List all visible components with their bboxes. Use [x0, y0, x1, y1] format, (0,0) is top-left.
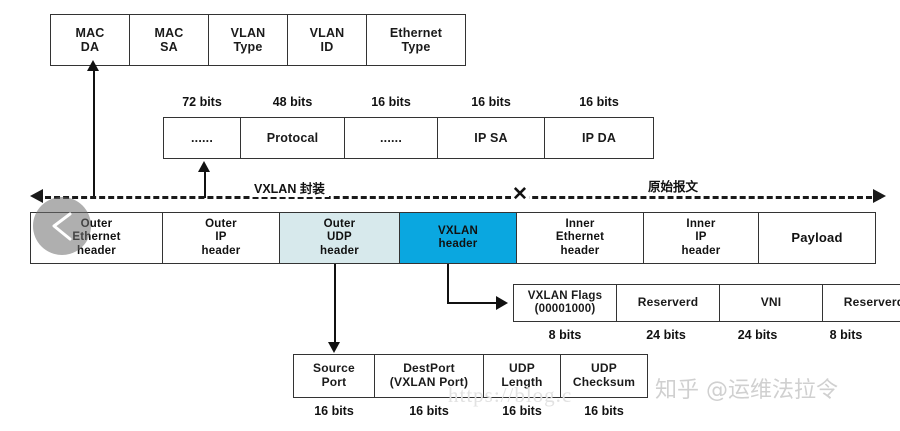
vxlan-bits-label-1: 24 bits — [616, 328, 716, 342]
field-ethernet-type-line1: Ethernet — [390, 26, 442, 40]
outer-ip-line3: header — [202, 245, 241, 258]
field-mac-sa-line1: MAC — [154, 26, 183, 40]
udp-bits-label-0: 16 bits — [293, 404, 375, 418]
previous-image-button[interactable] — [33, 197, 91, 255]
field-mac-sa-line2: SA — [154, 40, 183, 54]
udp-bits-label-3: 16 bits — [560, 404, 648, 418]
inner-ethernet-line1: Inner — [556, 218, 604, 231]
field-ip-misc-2: ...... — [344, 117, 438, 159]
field-vxlan-vni: VNI — [719, 284, 823, 322]
label-original-packet: 原始报文 — [644, 176, 702, 195]
label-vxlan-encapsulation: VXLAN 封装 — [250, 178, 329, 197]
vxlan-bits-label-3: 8 bits — [799, 328, 893, 342]
field-vlan-type-line2: Type — [231, 40, 266, 54]
field-vlan-id-line1: VLAN — [310, 26, 345, 40]
vxlan-header-line2: header — [438, 238, 478, 251]
inner-ip-line1: Inner — [682, 218, 721, 231]
field-vxlan-reserved-1: Reserverd — [616, 284, 720, 322]
packet-field-inner-ethernet-header: Inner Ethernet header — [516, 212, 644, 264]
udp-checksum-line2: Checksum — [573, 376, 635, 390]
inner-ip-line3: header — [682, 245, 721, 258]
field-ip-protocol: Protocal — [240, 117, 345, 159]
ip-bits-label-3: 16 bits — [437, 95, 545, 109]
connector-line-vxlan-horizontal — [447, 302, 497, 304]
chevron-left-icon — [48, 211, 76, 241]
encapsulation-span-line — [36, 196, 881, 199]
encapsulation-arrow-left — [30, 189, 43, 203]
field-mac-da: MAC DA — [50, 14, 130, 66]
field-mac-da-line2: DA — [75, 40, 104, 54]
udp-length-line1: UDP — [501, 362, 542, 376]
udp-source-port-line1: Source — [313, 362, 355, 376]
connector-arrowhead-outer-ethernet — [87, 60, 99, 71]
packet-field-outer-ip-header: Outer IP header — [162, 212, 280, 264]
field-vlan-id-line2: ID — [310, 40, 345, 54]
field-mac-sa: MAC SA — [129, 14, 209, 66]
inner-ethernet-line3: header — [556, 245, 604, 258]
outer-udp-line1: Outer — [320, 218, 359, 231]
field-mac-da-line1: MAC — [75, 26, 104, 40]
vxlan-bits-label-2: 24 bits — [715, 328, 800, 342]
field-ip-da: IP DA — [544, 117, 654, 159]
connector-line-vxlan-vertical — [447, 264, 449, 302]
vxlan-bits-label-0: 8 bits — [513, 328, 617, 342]
udp-dest-port-line1: DestPort — [390, 362, 468, 376]
ip-header-field-table: ...... Protocal ...... IP SA IP DA — [163, 117, 654, 159]
udp-checksum-line1: UDP — [573, 362, 635, 376]
ip-bits-label-4: 16 bits — [544, 95, 654, 109]
field-udp-checksum: UDP Checksum — [560, 354, 648, 398]
watermark-url: https://blog.c — [448, 383, 572, 408]
outer-ip-line1: Outer — [202, 218, 241, 231]
field-vlan-type: VLAN Type — [208, 14, 288, 66]
inner-ip-line2: IP — [682, 231, 721, 244]
vxlan-header-line1: VXLAN — [438, 225, 478, 238]
outer-ip-line2: IP — [202, 231, 241, 244]
field-ip-misc-1: ...... — [163, 117, 241, 159]
connector-arrowhead-udp-detail — [328, 342, 340, 353]
ip-bits-label-1: 48 bits — [240, 95, 345, 109]
diagram-canvas: MAC DA MAC SA VLAN Type VLAN ID Ethernet — [0, 0, 900, 431]
vxlan-flags-line1: VXLAN Flags — [528, 290, 602, 303]
packet-field-inner-ip-header: Inner IP header — [643, 212, 759, 264]
field-ip-sa: IP SA — [437, 117, 545, 159]
encapsulation-arrow-right — [873, 189, 886, 203]
connector-arrowhead-vxlan-detail — [496, 296, 508, 310]
field-vlan-type-line1: VLAN — [231, 26, 266, 40]
encapsulation-split-marker: ✕ — [511, 186, 529, 204]
connector-line-outer-ip — [204, 172, 206, 198]
outer-udp-line3: header — [320, 245, 359, 258]
field-udp-source-port: Source Port — [293, 354, 375, 398]
field-ethernet-type-line2: Type — [390, 40, 442, 54]
vxlan-packet-structure-row: Outer Ethernet header Outer IP header Ou… — [30, 212, 876, 264]
packet-field-payload: Payload — [758, 212, 876, 264]
payload-line1: Payload — [791, 231, 842, 246]
ip-bits-label-2: 16 bits — [344, 95, 438, 109]
watermark-author: 知乎 @运维法拉令 — [655, 372, 838, 404]
packet-field-outer-udp-header: Outer UDP header — [279, 212, 400, 264]
packet-field-vxlan-header: VXLAN header — [399, 212, 517, 264]
ethernet-header-field-table: MAC DA MAC SA VLAN Type VLAN ID Ethernet — [50, 14, 466, 66]
connector-line-outer-ethernet — [93, 70, 95, 196]
field-vxlan-flags: VXLAN Flags (00001000) — [513, 284, 617, 322]
field-vlan-id: VLAN ID — [287, 14, 367, 66]
field-ethernet-type: Ethernet Type — [366, 14, 466, 66]
connector-arrowhead-outer-ip — [198, 161, 210, 172]
udp-source-port-line2: Port — [313, 376, 355, 390]
ip-bits-label-0: 72 bits — [163, 95, 241, 109]
inner-ethernet-line2: Ethernet — [556, 231, 604, 244]
vxlan-flags-line2: (00001000) — [528, 303, 602, 316]
vxlan-header-detail-table: VXLAN Flags (00001000) Reserverd VNI Res… — [513, 284, 900, 322]
outer-udp-line2: UDP — [320, 231, 359, 244]
field-vxlan-reserved-2: Reserverd — [822, 284, 900, 322]
connector-line-outer-udp — [334, 264, 336, 343]
